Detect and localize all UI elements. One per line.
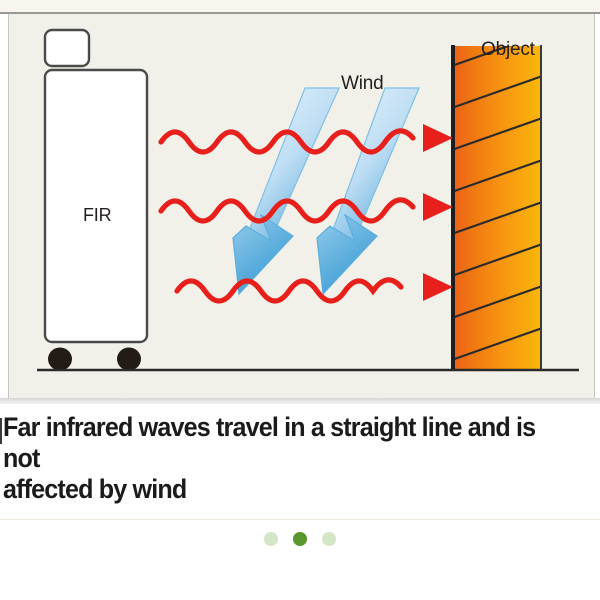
object-label: Object [481, 40, 535, 59]
fir-wheel-right [117, 348, 141, 371]
caption-left-edge-mark [0, 418, 2, 444]
fir-unit [45, 30, 147, 371]
pager-dot-2-active[interactable] [293, 532, 307, 546]
pager-divider-rule [0, 519, 600, 520]
illustration-panel: Object Wind FIR [8, 14, 595, 398]
infrared-wave-2 [161, 200, 413, 221]
fir-label: FIR [83, 206, 111, 225]
infrared-arrowhead-3 [423, 273, 453, 301]
infrared-arrowhead-1 [423, 124, 453, 152]
object-wall [446, 32, 548, 398]
pager-dot-1[interactable] [264, 532, 278, 546]
pager-dot-3[interactable] [322, 532, 336, 546]
page-root: Object Wind FIR Far infrared waves trave… [0, 0, 600, 600]
wind-label: Wind [341, 74, 384, 93]
infrared-arrowhead-2 [423, 193, 453, 221]
wind-arrow-2 [317, 88, 419, 294]
infrared-arrowheads [423, 124, 453, 301]
caption-text: Far infrared waves travel in a straight … [3, 412, 555, 505]
caption-line-2: affected by wind [3, 474, 555, 505]
pager-dots[interactable] [0, 528, 600, 550]
caption-line-1: Far infrared waves travel in a straight … [3, 412, 555, 474]
fir-unit-top-box [45, 30, 89, 66]
infrared-wave-3 [177, 280, 401, 301]
fir-wheel-left [48, 348, 72, 371]
caption-block: Far infrared waves travel in a straight … [0, 404, 600, 516]
